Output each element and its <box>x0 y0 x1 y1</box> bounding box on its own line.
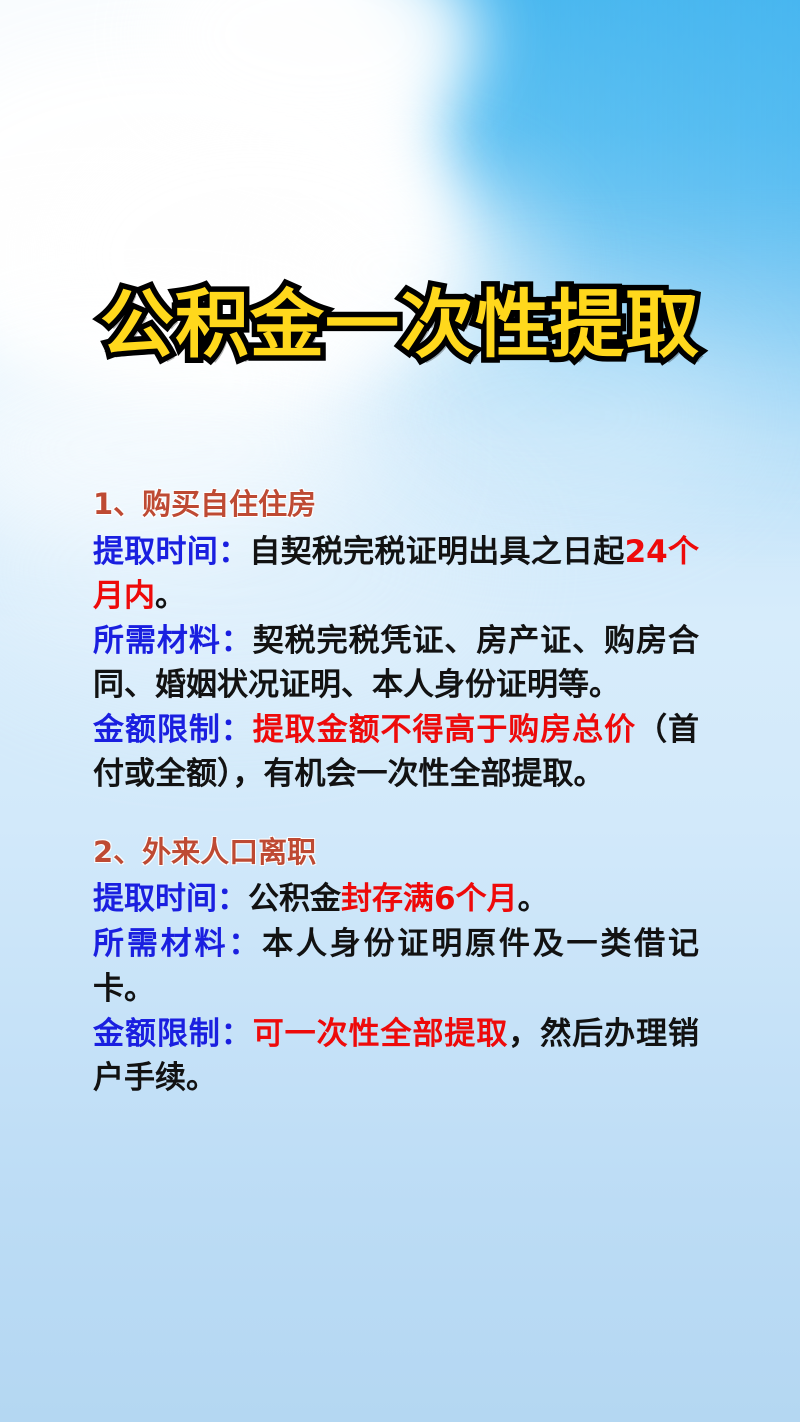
detail-row-text: 。 <box>518 881 549 917</box>
detail-row-text: 公积金 <box>248 881 341 917</box>
detail-row: 提取时间：公积金封存满6个月。 <box>93 877 699 921</box>
detail-row-label: 所需材料： <box>93 623 253 659</box>
poster-canvas: 公积金一次性提取 1、购买自住住房提取时间：自契税完税证明出具之日起24个月内。… <box>0 0 800 1422</box>
title-block: 公积金一次性提取 <box>0 288 800 362</box>
detail-row-label: 金额限制： <box>93 1016 253 1052</box>
content-body: 1、购买自住住房提取时间：自契税完税证明出具之日起24个月内。所需材料：契税完税… <box>93 486 699 1101</box>
detail-row: 金额限制：可一次性全部提取，然后办理销户手续。 <box>93 1012 699 1100</box>
content-section: 2、外来人口离职提取时间：公积金封存满6个月。所需材料：本人身份证明原件及一类借… <box>93 834 699 1100</box>
page-title: 公积金一次性提取 <box>100 288 700 362</box>
detail-row-label: 金额限制： <box>93 712 253 748</box>
detail-row: 金额限制：提取金额不得高于购房总价（首付或全额），有机会一次性全部提取。 <box>93 708 699 796</box>
section-heading: 1、购买自住住房 <box>93 486 699 524</box>
detail-row-text: 。 <box>155 578 186 614</box>
detail-row-highlight: 提取金额不得高于购房总价 <box>253 712 636 748</box>
detail-row: 所需材料：契税完税凭证、房产证、购房合同、婚姻状况证明、本人身份证明等。 <box>93 619 699 707</box>
detail-row: 所需材料：本人身份证明原件及一类借记卡。 <box>93 922 699 1010</box>
detail-row-label: 所需材料： <box>93 926 262 962</box>
detail-row-text: 自契税完税证明出具之日起 <box>249 534 624 570</box>
content-section: 1、购买自住住房提取时间：自契税完税证明出具之日起24个月内。所需材料：契税完税… <box>93 486 699 796</box>
detail-row-highlight: 封存满6个月 <box>341 881 518 917</box>
section-heading: 2、外来人口离职 <box>93 834 699 872</box>
detail-row: 提取时间：自契税完税证明出具之日起24个月内。 <box>93 530 699 618</box>
detail-row-highlight: 可一次性全部提取 <box>253 1016 509 1052</box>
detail-row-label: 提取时间： <box>93 534 249 570</box>
detail-row-label: 提取时间： <box>93 881 248 917</box>
